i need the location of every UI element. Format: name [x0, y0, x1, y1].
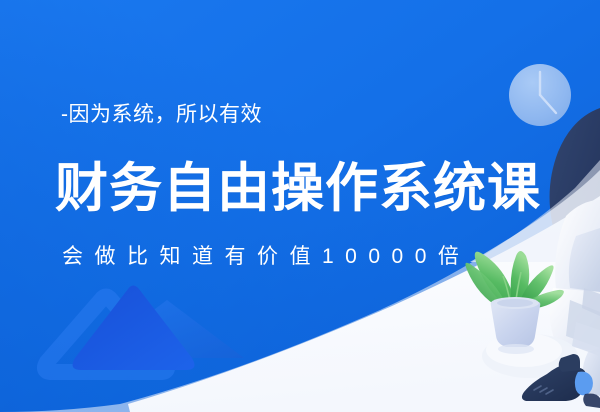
clock-icon [509, 64, 571, 126]
banner-artwork [0, 0, 600, 412]
course-banner: -因为系统，所以有效 财务自由操作系统课 会做比知道有价值10000倍 [0, 0, 600, 412]
